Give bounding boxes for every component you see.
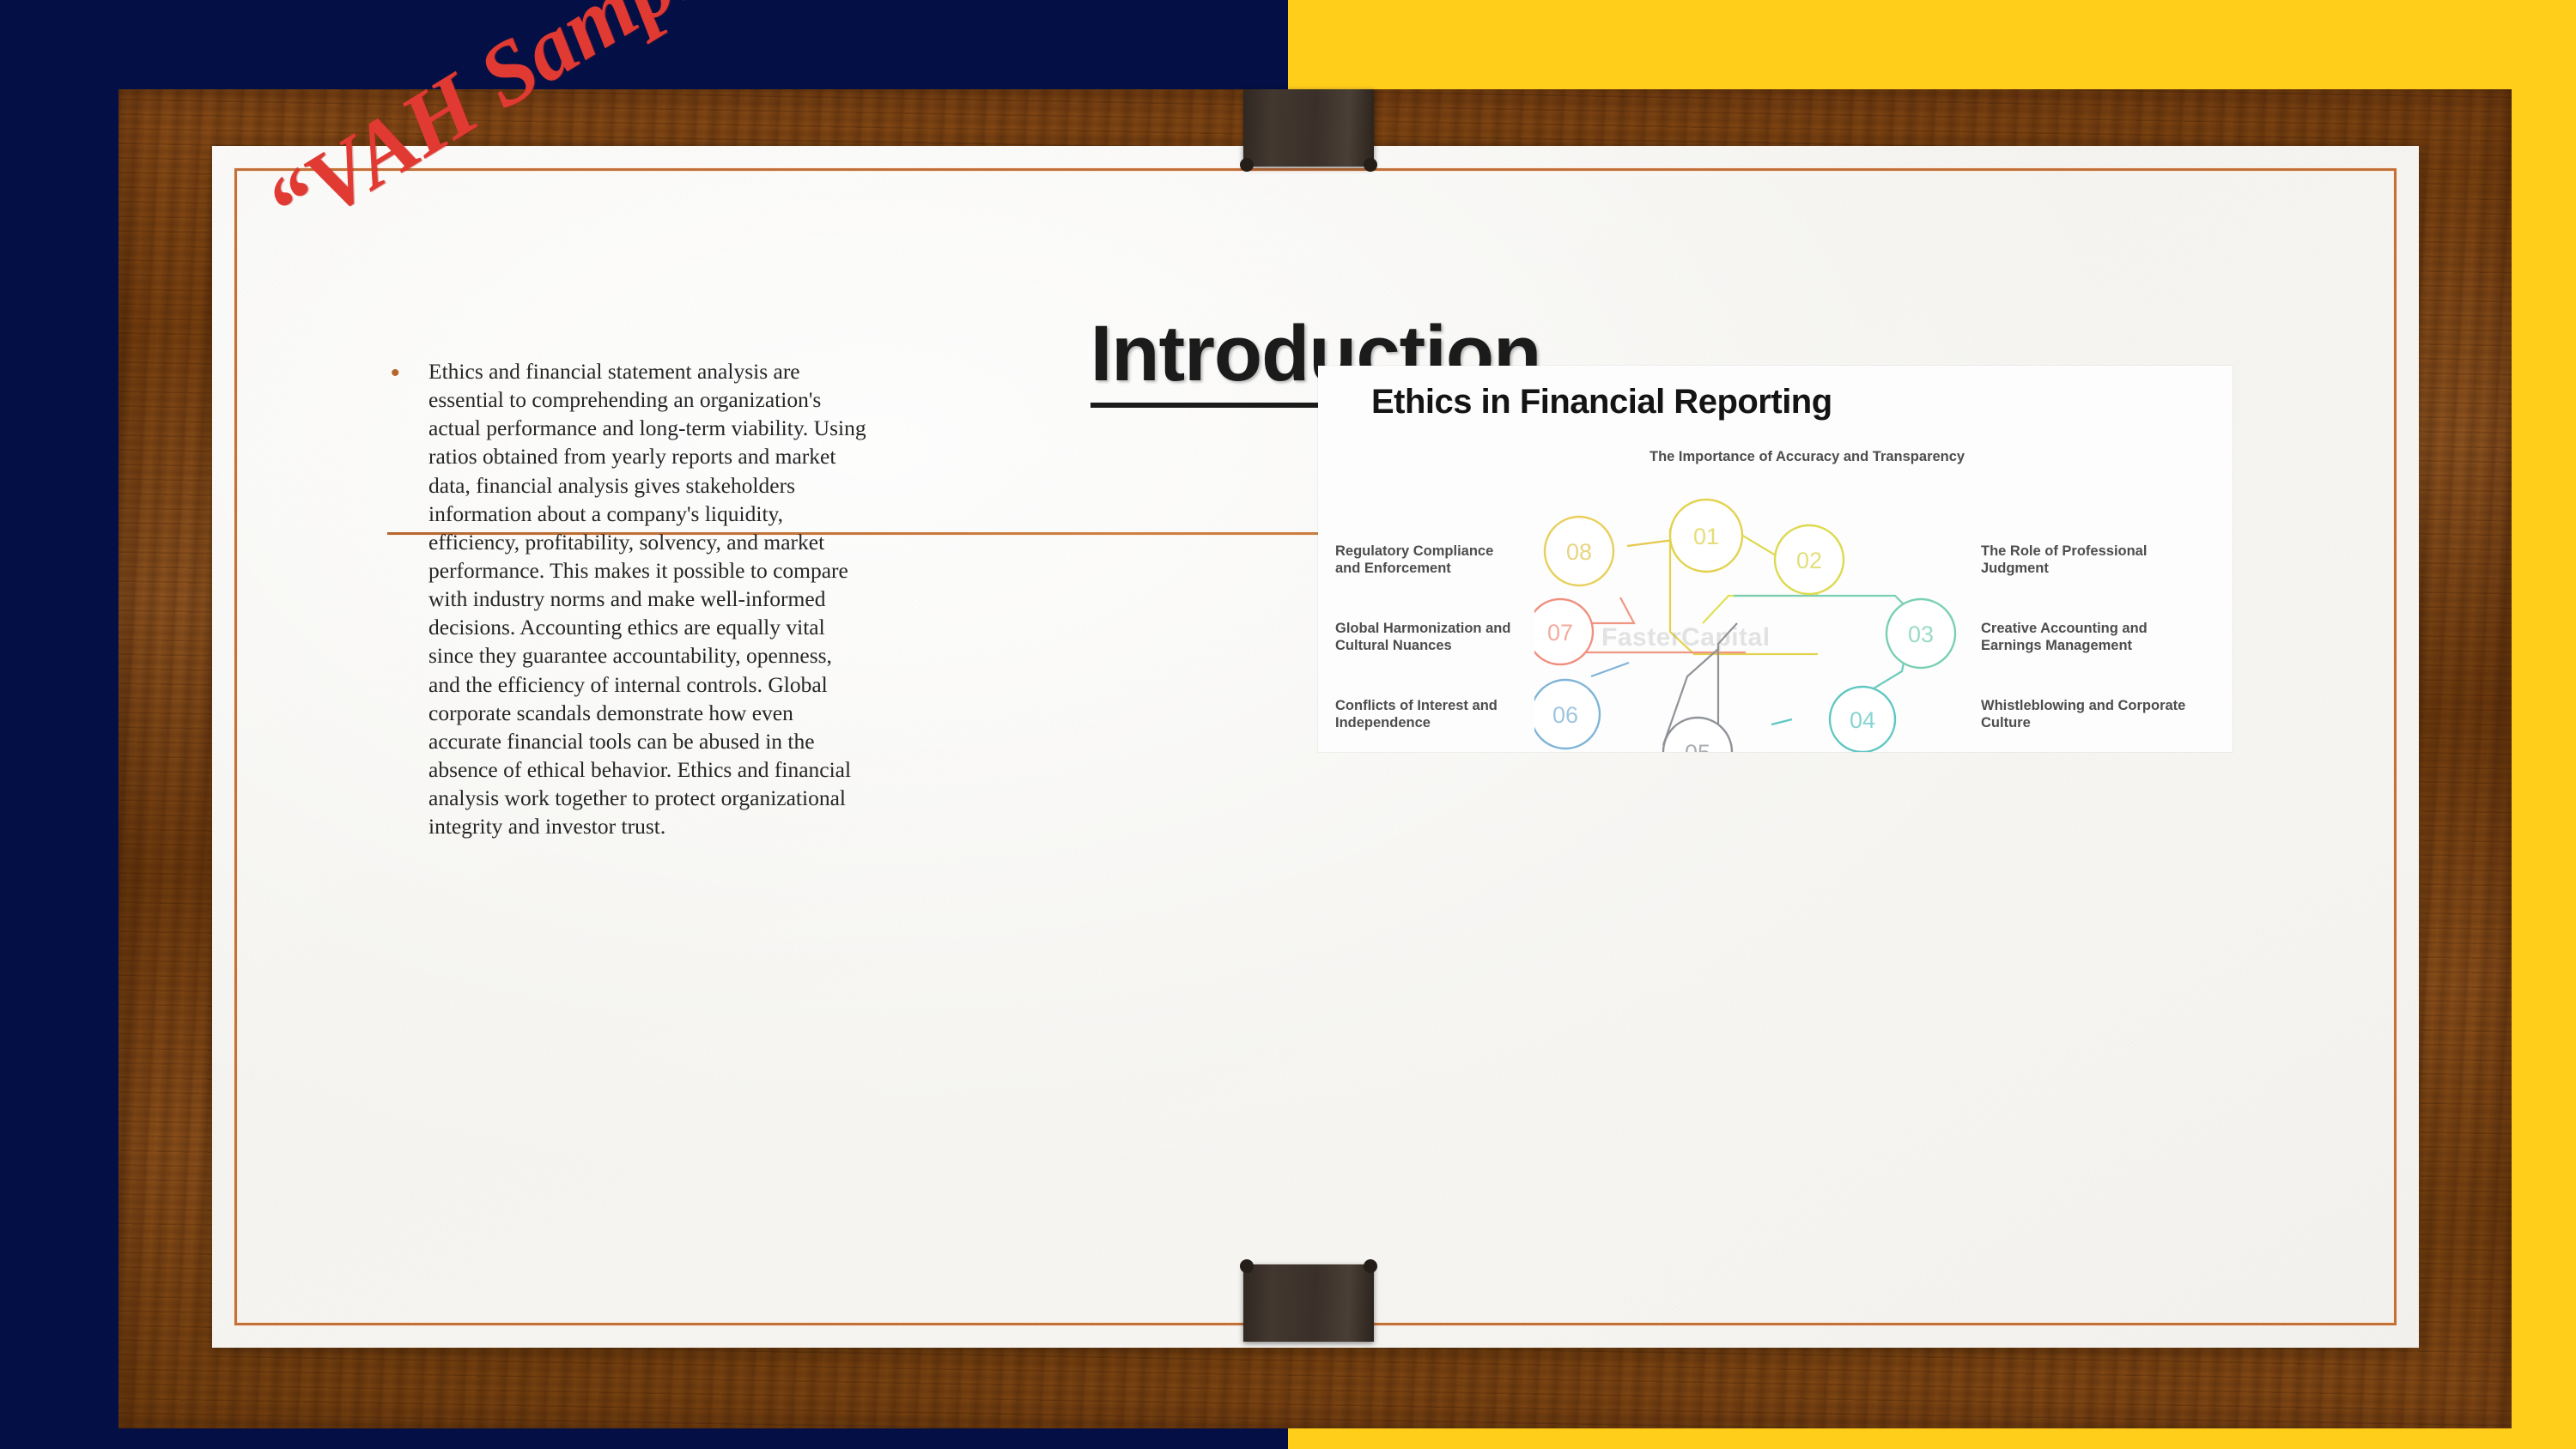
figure-label-creative-accounting: Creative Accounting and Earnings Managem… <box>1981 620 2178 654</box>
presentation-slide: Introduction • Ethics and financial stat… <box>212 146 2419 1348</box>
frame-clip-bottom <box>1243 1264 1374 1342</box>
bullet-icon: • <box>391 357 428 840</box>
svg-text:08: 08 <box>1566 539 1592 565</box>
svg-text:07: 07 <box>1547 620 1573 646</box>
figure-label-global-harmonization: Global Harmonization and Cultural Nuance… <box>1335 620 1520 654</box>
embedded-figure-ethics-in-financial-reporting: Ethics in Financial Reporting The Import… <box>1318 366 2233 752</box>
frame-clip-top <box>1243 89 1374 167</box>
svg-text:05: 05 <box>1685 740 1710 752</box>
figure-label-conflicts-of-interest: Conflicts of Interest and Independence <box>1335 697 1520 731</box>
figure-label-regulatory: Regulatory Compliance and Enforcement <box>1335 543 1520 577</box>
clip-nub-left <box>1240 158 1254 172</box>
svg-text:03: 03 <box>1908 621 1934 647</box>
svg-text:02: 02 <box>1796 548 1822 573</box>
figure-source-watermark: FasterCapital <box>1601 623 1771 652</box>
clip-nub-right <box>1364 1259 1377 1273</box>
figure-label-whistleblowing: Whistleblowing and Corporate Culture <box>1981 697 2187 731</box>
clip-nub-right <box>1364 158 1377 172</box>
figure-title: Ethics in Financial Reporting <box>1371 383 1832 421</box>
figure-label-accuracy: The Importance of Accuracy and Transpare… <box>1649 448 1965 465</box>
svg-text:01: 01 <box>1693 524 1719 549</box>
body-paragraph: Ethics and financial statement analysis … <box>428 357 867 840</box>
body-bullet-item: • Ethics and financial statement analysi… <box>391 357 867 840</box>
clip-nub-left <box>1240 1259 1254 1273</box>
svg-text:06: 06 <box>1552 702 1578 728</box>
svg-text:04: 04 <box>1850 707 1875 733</box>
figure-label-professional-judgment: The Role of Professional Judgment <box>1981 543 2178 577</box>
